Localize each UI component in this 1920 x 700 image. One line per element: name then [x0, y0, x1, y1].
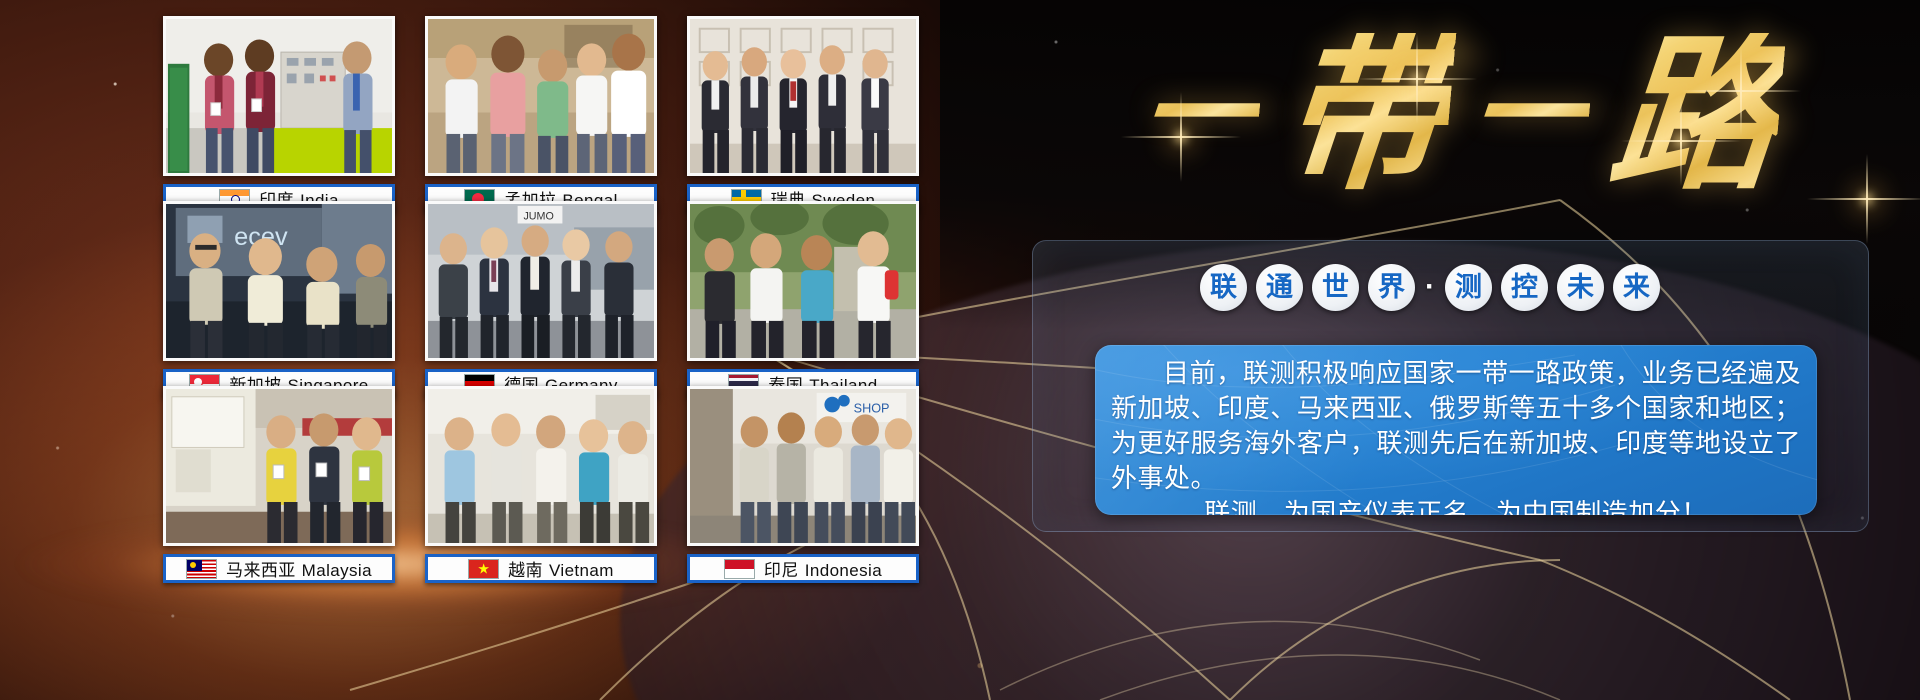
- sparkle-icon: [1740, 90, 1742, 92]
- sparkle-icon: [1416, 78, 1418, 80]
- slogan-char-1: 联: [1200, 264, 1247, 311]
- slogan-separator: ·: [1424, 272, 1436, 302]
- group-photo-india-art: [166, 19, 392, 175]
- sparkle-icon: [1866, 198, 1868, 200]
- group-photo-germany-art: JUMO: [428, 204, 654, 360]
- slogan-row: 联 通 世 界 · 测 控 未 来: [1150, 262, 1710, 312]
- slogan-char-5: 测: [1445, 264, 1492, 311]
- svg-text:SHOP: SHOP: [854, 401, 890, 415]
- photo-cell-bengal[interactable]: 孟加拉Bengal: [425, 16, 657, 213]
- photo-label-text: 马来西亚Malaysia: [226, 556, 372, 581]
- photo-frame: [687, 16, 919, 176]
- slogan-char-4: 界: [1368, 264, 1415, 311]
- photo-cell-thailand[interactable]: 泰国Thailand: [687, 201, 919, 398]
- banner-root: 印度India 孟加拉Bengal: [0, 0, 1920, 700]
- photo-cell-germany[interactable]: JUMO 德国Germany: [425, 201, 657, 398]
- headline-char-1: 一: [1136, 58, 1264, 176]
- headline-char-3: 一: [1466, 58, 1594, 176]
- photo-frame: ecev: [163, 201, 395, 361]
- photo-cell-vietnam[interactable]: 越南Vietnam: [425, 386, 657, 583]
- group-photo-sweden-art: [690, 19, 916, 175]
- photo-cell-sweden[interactable]: 瑞典Sweden: [687, 16, 919, 213]
- headline-calligraphy: 一 带 一 路: [1020, 8, 1900, 226]
- photo-label-text: 印尼Indonesia: [764, 556, 882, 581]
- country-photo-grid: 印度India 孟加拉Bengal: [163, 16, 918, 684]
- photo-cell-indonesia[interactable]: SHOP 印尼Indonesia: [687, 386, 919, 583]
- photo-frame: [425, 386, 657, 546]
- group-photo-indonesia-art: SHOP: [690, 389, 916, 545]
- slogan-char-3: 世: [1312, 264, 1359, 311]
- photo-frame: [163, 386, 395, 546]
- slogan-char-2: 通: [1256, 264, 1303, 311]
- flag-malaysia: [186, 559, 217, 579]
- headline-char-4: 路: [1604, 33, 1787, 201]
- group-photo-vietnam-art: [428, 389, 654, 545]
- info-text-box: 目前，联测积极响应国家一带一路政策，业务已经遍及新加坡、印度、马来西亚、俄罗斯等…: [1095, 345, 1817, 515]
- photo-cell-india[interactable]: 印度India: [163, 16, 395, 213]
- slogan-char-6: 控: [1501, 264, 1548, 311]
- photo-frame: [425, 16, 657, 176]
- info-paragraph-2: 联测，为国产仪表正名，为中国制造加分！: [1111, 497, 1801, 515]
- photo-frame: [163, 16, 395, 176]
- photo-label-text: 越南Vietnam: [508, 556, 614, 581]
- photo-cell-singapore[interactable]: ecev 新加坡Singapore: [163, 201, 395, 398]
- slogan-char-8: 来: [1613, 264, 1660, 311]
- group-photo-malaysia-art: [166, 389, 392, 545]
- sparkle-icon: [1680, 140, 1682, 142]
- group-photo-thailand-art: [690, 204, 916, 360]
- info-paragraph-1: 目前，联测积极响应国家一带一路政策，业务已经遍及新加坡、印度、马来西亚、俄罗斯等…: [1111, 357, 1801, 497]
- photo-label: 马来西亚Malaysia: [163, 554, 395, 583]
- flag-vietnam: [468, 559, 499, 579]
- photo-cell-malaysia[interactable]: 马来西亚Malaysia: [163, 386, 395, 583]
- group-photo-singapore-art: ecev: [166, 204, 392, 360]
- photo-label: 越南Vietnam: [425, 554, 657, 583]
- headline-char-2: 带: [1274, 33, 1457, 201]
- sparkle-icon: [1180, 136, 1182, 138]
- photo-frame: JUMO: [425, 201, 657, 361]
- photo-frame: [687, 201, 919, 361]
- flag-indonesia: [724, 559, 755, 579]
- photo-frame: SHOP: [687, 386, 919, 546]
- svg-text:JUMO: JUMO: [523, 211, 553, 223]
- slogan-char-7: 未: [1557, 264, 1604, 311]
- photo-label: 印尼Indonesia: [687, 554, 919, 583]
- group-photo-bengal-art: [428, 19, 654, 175]
